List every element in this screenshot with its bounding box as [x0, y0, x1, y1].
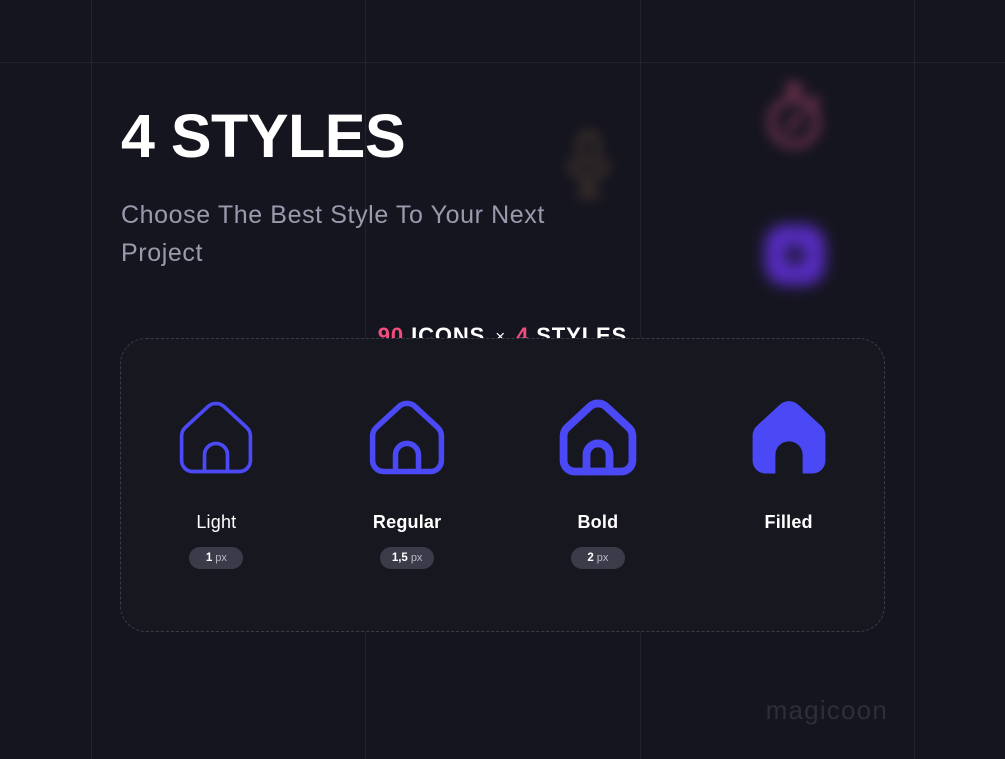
house-icon — [359, 389, 455, 485]
style-label: Bold — [577, 512, 618, 533]
house-icon — [550, 389, 646, 485]
timer-icon — [760, 80, 828, 157]
style-label: Light — [196, 512, 236, 533]
styles-card: Light 1px Regular 1,5px — [120, 338, 885, 632]
px-value: 2 — [587, 552, 593, 564]
style-column-regular[interactable]: Regular 1,5px — [312, 339, 503, 631]
page-subtitle: Choose The Best Style To Your Next Proje… — [121, 196, 551, 272]
px-badge: 1,5px — [380, 547, 434, 569]
px-badge: 2px — [571, 547, 625, 569]
px-value: 1,5 — [392, 552, 408, 564]
px-unit: px — [411, 552, 423, 564]
style-column-light[interactable]: Light 1px — [121, 339, 312, 631]
px-unit: px — [215, 552, 227, 564]
px-badge: 1px — [189, 547, 243, 569]
px-value: 1 — [206, 552, 212, 564]
house-icon — [741, 389, 837, 485]
style-column-bold[interactable]: Bold 2px — [503, 339, 694, 631]
microphone-icon — [556, 128, 620, 207]
style-column-filled[interactable]: Filled — [693, 339, 884, 631]
grid-line-vertical — [91, 0, 92, 759]
brand-logo: magicoon — [766, 695, 888, 726]
grid-line-vertical — [914, 0, 915, 759]
page-title: 4 STYLES — [121, 101, 405, 171]
house-icon — [168, 389, 264, 485]
poster-canvas: 4 STYLES Choose The Best Style To Your N… — [0, 0, 1005, 759]
style-label: Filled — [765, 512, 813, 533]
px-unit: px — [597, 552, 609, 564]
grid-line-horizontal — [0, 62, 1005, 63]
styles-row: Light 1px Regular 1,5px — [121, 339, 884, 631]
style-label: Regular — [373, 512, 441, 533]
sparkle-icon — [762, 222, 828, 293]
